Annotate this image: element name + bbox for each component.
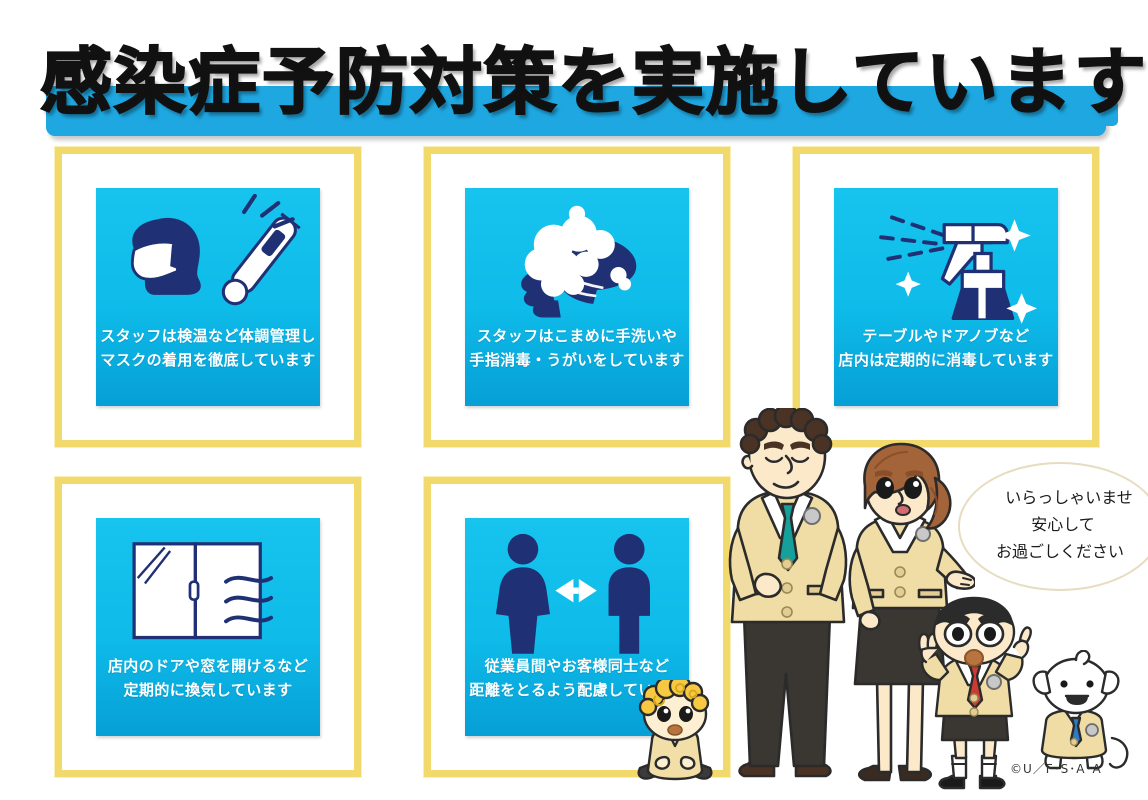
poster-canvas: 感染症予防対策を実施しています xyxy=(0,0,1148,800)
caption-line-1: スタッフはこまめに手洗いや xyxy=(469,324,685,348)
panel-mat: テーブルやドアノブなど 店内は定期的に消毒しています xyxy=(800,154,1092,440)
panel-tile: 店内のドアや窓を開けるなど 定期的に換気しています xyxy=(96,518,320,736)
panel-caption: スタッフはこまめに手洗いや 手指消毒・うがいをしています xyxy=(469,324,685,372)
caption-line-2: 店内は定期的に消毒しています xyxy=(838,348,1054,372)
caption-line-1: テーブルやドアノブなど xyxy=(838,324,1054,348)
speech-line-2: 安心して xyxy=(960,511,1148,538)
panel-mat: 店内のドアや窓を開けるなど 定期的に換気しています xyxy=(62,484,354,770)
caption-line-1: 店内のドアや窓を開けるなど xyxy=(100,654,316,678)
speech-line-1: いらっしゃいませ xyxy=(960,484,1148,511)
panel-caption: 店内のドアや窓を開けるなど 定期的に換気しています xyxy=(100,654,316,702)
panel-mat: スタッフは検温など体調管理し マスクの着用を徹底しています xyxy=(62,154,354,440)
speech-line-3: お過ごしください xyxy=(960,538,1148,565)
caption-line-1: スタッフは検温など体調管理し xyxy=(100,324,316,348)
open-window-ventilation-icon xyxy=(96,524,320,659)
caption-line-2: 定期的に換気しています xyxy=(100,678,316,702)
panel-tile: テーブルやドアノブなど 店内は定期的に消毒しています xyxy=(834,188,1058,406)
hand-washing-icon xyxy=(465,194,689,329)
spray-bottle-icon xyxy=(834,194,1058,329)
panel-tile: スタッフはこまめに手洗いや 手指消毒・うがいをしています xyxy=(465,188,689,406)
speech-bubble: いらっしゃいませ 安心して お過ごしください xyxy=(958,462,1148,591)
speech-bubble-text: いらっしゃいませ 安心して お過ごしください xyxy=(960,484,1148,565)
panel-caption: テーブルやドアノブなど 店内は定期的に消毒しています xyxy=(838,324,1054,372)
measure-panel-mask[interactable]: スタッフは検温など体調管理し マスクの着用を徹底しています xyxy=(55,147,361,447)
copyright-notice: ©U／F･S･A･A xyxy=(1010,760,1140,777)
panel-caption: スタッフは検温など体調管理し マスクの着用を徹底しています xyxy=(100,324,316,372)
caption-line-2: マスクの着用を徹底しています xyxy=(100,348,316,372)
measure-panel-ventilation[interactable]: 店内のドアや窓を開けるなど 定期的に換気しています xyxy=(55,477,361,777)
caption-line-2: 手指消毒・うがいをしています xyxy=(469,348,685,372)
panel-tile: スタッフは検温など体調管理し マスクの着用を徹底しています xyxy=(96,188,320,406)
mascot-characters-group: いらっしゃいませ 安心して お過ごしください xyxy=(600,400,1148,800)
masked-head-thermometer-icon xyxy=(96,194,320,329)
panel-mat: スタッフはこまめに手洗いや 手指消毒・うがいをしています xyxy=(431,154,723,440)
